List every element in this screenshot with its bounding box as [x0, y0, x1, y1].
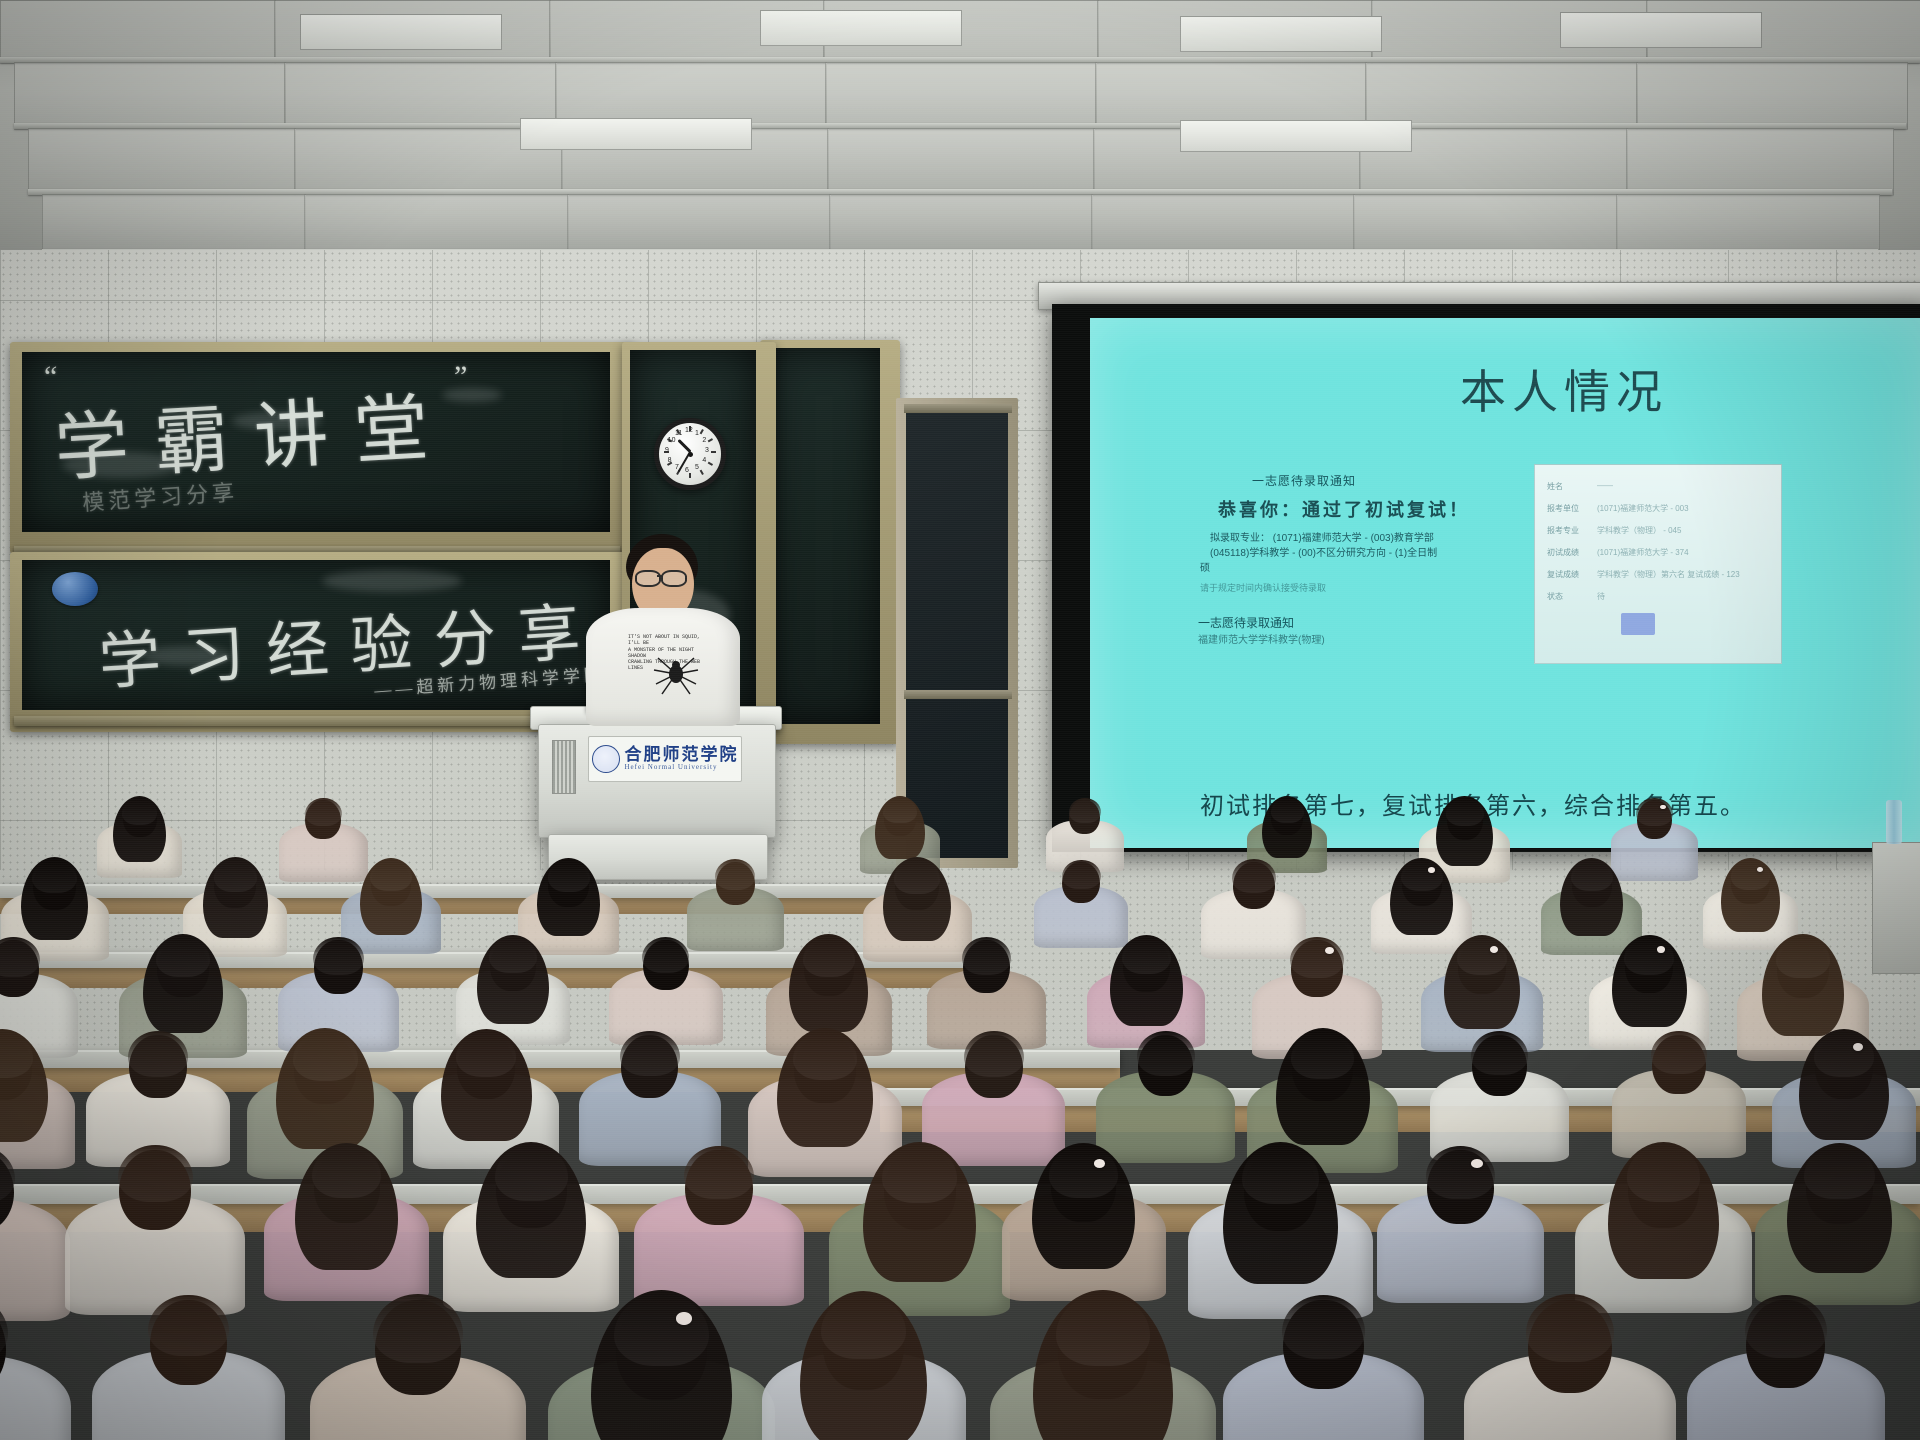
- audience-member-hair: [803, 937, 856, 977]
- slide-table-row-label: 报考单位: [1547, 503, 1579, 514]
- ceiling-light: [520, 118, 752, 150]
- audience-member-hair: [620, 1031, 679, 1076]
- audience-member-hair: [882, 1145, 957, 1202]
- audience-member-hair: [1049, 1146, 1117, 1198]
- audience-member-hair: [148, 1295, 229, 1357]
- slide-section1-label: 一志愿待录取通知: [1252, 472, 1356, 489]
- audience-member-hair: [1291, 1031, 1354, 1079]
- audience-member-hair: [1069, 798, 1101, 823]
- audience-member-torso: [0, 1355, 71, 1440]
- podium-plaque: 合肥师范学院 Hefei Normal University: [588, 736, 742, 782]
- ceiling-light: [760, 10, 962, 46]
- audience-member-hair: [1804, 1146, 1874, 1200]
- audience-member-hair: [1651, 1031, 1707, 1074]
- blackboard-lower: 学习经验分享 ——超新力物理科学学院: [22, 560, 610, 710]
- slide-section2-body: 福建师范大学学科教学(物理): [1198, 634, 1325, 649]
- audience-member-hair: [489, 937, 537, 973]
- clock-numeral: 5: [695, 464, 699, 471]
- blackboard-upper: 学霸讲堂 “ ” 模范学习分享: [22, 352, 610, 532]
- slide-embedded-screenshot: 姓名——报考单位(1071)福建师范大学 - 003报考专业学科教学（物理） -…: [1534, 464, 1782, 664]
- clock-numeral: 1: [695, 430, 699, 437]
- audience-member-hair: [1122, 937, 1171, 974]
- audience-member-hair: [495, 1145, 568, 1201]
- audience-member-hair: [456, 1031, 517, 1077]
- blackboard-quote-open: “: [44, 360, 57, 394]
- audience-member-hair: [293, 1031, 358, 1081]
- audience-member-hair: [32, 859, 77, 893]
- audience-member-hair: [1571, 859, 1613, 891]
- ceiling-tile: [827, 128, 1095, 196]
- clock-tick: [708, 438, 713, 442]
- slide-title: 本人情况: [1460, 356, 1668, 422]
- hair-clip: [1094, 1159, 1105, 1168]
- clock-numeral: 6: [685, 467, 689, 474]
- audience-member-hair: [118, 1145, 193, 1202]
- slide-screenshot-button: [1621, 613, 1655, 635]
- university-seal-icon: [592, 745, 620, 773]
- audience-member-hair: [305, 798, 342, 826]
- side-equipment-rack: [1872, 842, 1920, 974]
- clock-numeral: 4: [702, 457, 706, 464]
- audience-member-hair: [1814, 1031, 1874, 1077]
- clock-numeral: 9: [665, 447, 669, 454]
- audience-member-hair: [684, 1146, 754, 1200]
- ceiling-tile: [14, 62, 286, 130]
- speaker-glasses-right: [661, 570, 687, 587]
- podium-plaque-en: Hefei Normal University: [625, 764, 718, 771]
- slide-section1-line2: (045118)学科教学 - (00)不区分研究方向 - (1)全日制: [1210, 547, 1437, 562]
- slide-section1-line3: 硕: [1200, 562, 1210, 577]
- side-door-panel[interactable]: [906, 410, 1008, 858]
- audience-member-hair: [1271, 798, 1304, 823]
- slide-section1-line1: 拟录取专业： (1071)福建师范大学 - (003)教育学部: [1210, 532, 1434, 547]
- audience-member-hair: [373, 1294, 463, 1363]
- audience-member-hair: [1062, 860, 1101, 890]
- ceiling-light: [1180, 120, 1412, 152]
- audience-member-hair: [1627, 1145, 1701, 1201]
- clock-tick: [700, 429, 704, 434]
- ceiling-tile: [0, 0, 276, 64]
- podium-vent: [552, 740, 576, 794]
- audience-member-hair: [1636, 798, 1673, 826]
- audience-member-hair: [128, 1031, 188, 1077]
- audience-member-hair: [1401, 859, 1443, 891]
- ceiling-tile: [1091, 194, 1355, 256]
- clock-numeral: 12: [685, 427, 693, 434]
- ceiling-tile: [1636, 62, 1908, 130]
- ceiling-light: [300, 14, 502, 50]
- slide-table-row-label: 状态: [1547, 591, 1563, 602]
- audience-member-hair: [1731, 859, 1771, 889]
- audience-member-hair: [964, 1031, 1024, 1076]
- slide-section1-line4: 请于规定时间内确认接受待录取: [1200, 582, 1326, 595]
- ceiling-tile: [825, 62, 1097, 130]
- audience-member-hair: [313, 937, 364, 976]
- hair-clip: [1853, 1043, 1863, 1051]
- audience-member-hair: [312, 1146, 380, 1198]
- ceiling-light: [1180, 16, 1382, 52]
- ceiling-tile: [1626, 128, 1894, 196]
- clock-numeral: 8: [668, 457, 672, 464]
- ceiling-tile: [829, 194, 1093, 256]
- ceiling-light: [1560, 12, 1762, 48]
- side-door-rail-mid: [904, 690, 1012, 699]
- audience-member-hair: [715, 859, 755, 890]
- audience-member-hair: [1290, 937, 1344, 978]
- audience-member-hair: [883, 798, 917, 824]
- blackboard-upper-text: 学霸讲堂: [51, 367, 456, 496]
- lecture-hall-photo: 学霸讲堂 “ ” 模范学习分享 学习经验分享 ——超新力物理科学学院 12123…: [0, 0, 1920, 1440]
- blackboard-magnet: [52, 572, 98, 606]
- audience-member-hair: [548, 859, 590, 891]
- slide-section2-label: 一志愿待录取通知: [1198, 614, 1294, 631]
- ceiling-tile: [28, 128, 296, 196]
- clock-tick: [689, 473, 691, 478]
- podium-plaque-cn: 合肥师范学院: [625, 746, 739, 764]
- audience-member-hair: [1242, 1145, 1319, 1204]
- projector-slide: 本人情况 一志愿待录取通知 恭喜你：通过了初试复试！ 拟录取专业： (1071)…: [1090, 318, 1920, 848]
- slide-table-row-value: 学科教学（物理） - 045: [1597, 525, 1681, 536]
- slide-table-row-value: 学科教学（物理）第六名 复试成绩 - 123: [1597, 569, 1740, 580]
- slide-table-row-label: 初试成绩: [1547, 547, 1579, 558]
- ceiling-tile: [42, 194, 306, 256]
- spider-graphic-icon: [650, 650, 702, 698]
- audience-member-hair: [962, 937, 1012, 975]
- audience-member-hair: [1624, 937, 1674, 975]
- audience-member-hair: [1526, 1294, 1614, 1361]
- hair-clip: [1428, 867, 1435, 873]
- clock-tick: [708, 462, 713, 466]
- clock-numeral: 10: [668, 437, 676, 444]
- slide-section1-heading: 恭喜你：通过了初试复试！: [1218, 496, 1470, 522]
- clock-tick: [700, 470, 704, 475]
- audience-member-hair: [1457, 937, 1508, 976]
- clock-numeral: 3: [705, 447, 709, 454]
- clock-numeral: 11: [675, 430, 682, 437]
- audience-member-hair: [614, 1294, 708, 1366]
- audience-member-hair: [1446, 798, 1484, 827]
- hair-clip: [1471, 1159, 1483, 1168]
- audience-member-hair: [1137, 1031, 1195, 1075]
- blackboard-center: [768, 348, 880, 724]
- clock-tick: [711, 451, 716, 453]
- ceiling-tile: [1616, 194, 1880, 256]
- audience-member-hair: [1232, 859, 1276, 892]
- speaker-glasses-left: [635, 570, 661, 587]
- audience-member-hair: [642, 937, 689, 973]
- side-door-rail-top: [904, 404, 1012, 413]
- slide-table-row-label: 报考专业: [1547, 525, 1579, 536]
- audience-member-hair: [793, 1031, 857, 1080]
- audience-member-hair: [1471, 1031, 1529, 1075]
- shirt-print-line: IT'S NOT ABOUT IN SQUID, I'LL BE: [628, 634, 714, 647]
- wall-clock: 121234567891011: [654, 418, 726, 490]
- hair-clip: [676, 1312, 692, 1325]
- audience-member-hair: [214, 859, 257, 892]
- ceiling-tile: [304, 194, 568, 256]
- slide-table-row-label: 复试成绩: [1547, 569, 1579, 580]
- audience-member-hair: [894, 859, 939, 894]
- ceiling-tile: [284, 62, 556, 130]
- blackboard-quote-close: ”: [454, 360, 467, 394]
- ceiling-tile: [1353, 194, 1617, 256]
- audience-member-hair: [370, 859, 412, 891]
- slide-table-row-value: ——: [1597, 481, 1613, 490]
- clock-numeral: 2: [702, 437, 706, 444]
- slide-table-row-value: (1071)福建师范大学 - 374: [1597, 547, 1689, 558]
- slide-table-row-value: 待: [1597, 591, 1605, 602]
- slide-table-row-label: 姓名: [1547, 481, 1563, 492]
- ceiling-tile: [567, 194, 831, 256]
- water-bottle-shelf: [1886, 800, 1902, 844]
- slide-table-row-value: (1071)福建师范大学 - 003: [1597, 503, 1689, 514]
- audience-member-hair: [156, 937, 209, 978]
